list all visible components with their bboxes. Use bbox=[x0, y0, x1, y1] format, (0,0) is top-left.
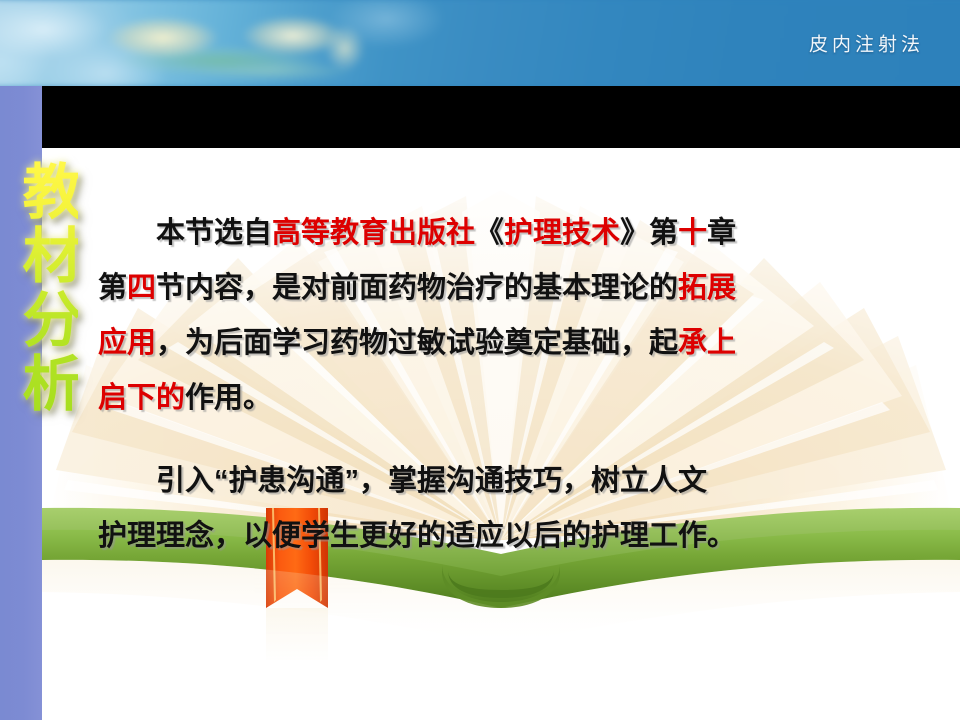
run-plain: 节内容，是对前面药物治疗的基本理论的 bbox=[156, 272, 678, 304]
slide-canvas: 皮内注射法 教材分析 bbox=[0, 0, 960, 720]
black-divider-bar bbox=[42, 86, 960, 148]
run-emphasis: 护理技术 bbox=[504, 217, 620, 249]
content-stage: 本节选自高等教育出版社《护理技术》第十章 第四节内容，是对前面药物治疗的基本理论… bbox=[42, 148, 960, 720]
text-line-5: 引入“护患沟通”，掌握沟通技巧，树立人文 bbox=[98, 454, 904, 509]
header-banner: 皮内注射法 bbox=[0, 0, 960, 86]
run-plain: 》第 bbox=[620, 217, 678, 249]
run-plain: 章 bbox=[707, 217, 736, 249]
book-spine bbox=[448, 570, 554, 598]
text-line-6: 护理理念，以便学生更好的适应以后的护理工作。 bbox=[98, 509, 904, 564]
text-line-2: 第四节内容，是对前面药物治疗的基本理论的拓展 bbox=[98, 261, 904, 316]
run-emphasis: 启下的 bbox=[98, 382, 185, 414]
book-spine-rim bbox=[442, 564, 560, 608]
run-emphasis: 拓展 bbox=[678, 272, 736, 304]
sidebar-section-title: 教材分析 bbox=[2, 160, 78, 416]
run-emphasis: 高等教育出版社 bbox=[272, 217, 475, 249]
run-emphasis: 四 bbox=[127, 272, 156, 304]
run-plain: 《 bbox=[475, 217, 504, 249]
run-plain: 第 bbox=[98, 272, 127, 304]
run-emphasis: 承上 bbox=[678, 327, 736, 359]
run-plain: 作用。 bbox=[185, 382, 272, 414]
body-text: 本节选自高等教育出版社《护理技术》第十章 第四节内容，是对前面药物治疗的基本理论… bbox=[42, 148, 960, 564]
run-emphasis: 应用 bbox=[98, 327, 156, 359]
text-line-3: 应用，为后面学习药物过敏试验奠定基础，起承上 bbox=[98, 316, 904, 371]
run-emphasis: 十 bbox=[678, 217, 707, 249]
book-reflection bbox=[42, 560, 960, 660]
text-line-4: 启下的作用。 bbox=[98, 371, 904, 426]
run-plain: 本节选自 bbox=[156, 217, 272, 249]
text-line-1: 本节选自高等教育出版社《护理技术》第十章 bbox=[98, 206, 904, 261]
run-plain: ，为后面学习药物过敏试验奠定基础，起 bbox=[156, 327, 678, 359]
banner-title: 皮内注射法 bbox=[809, 30, 924, 57]
